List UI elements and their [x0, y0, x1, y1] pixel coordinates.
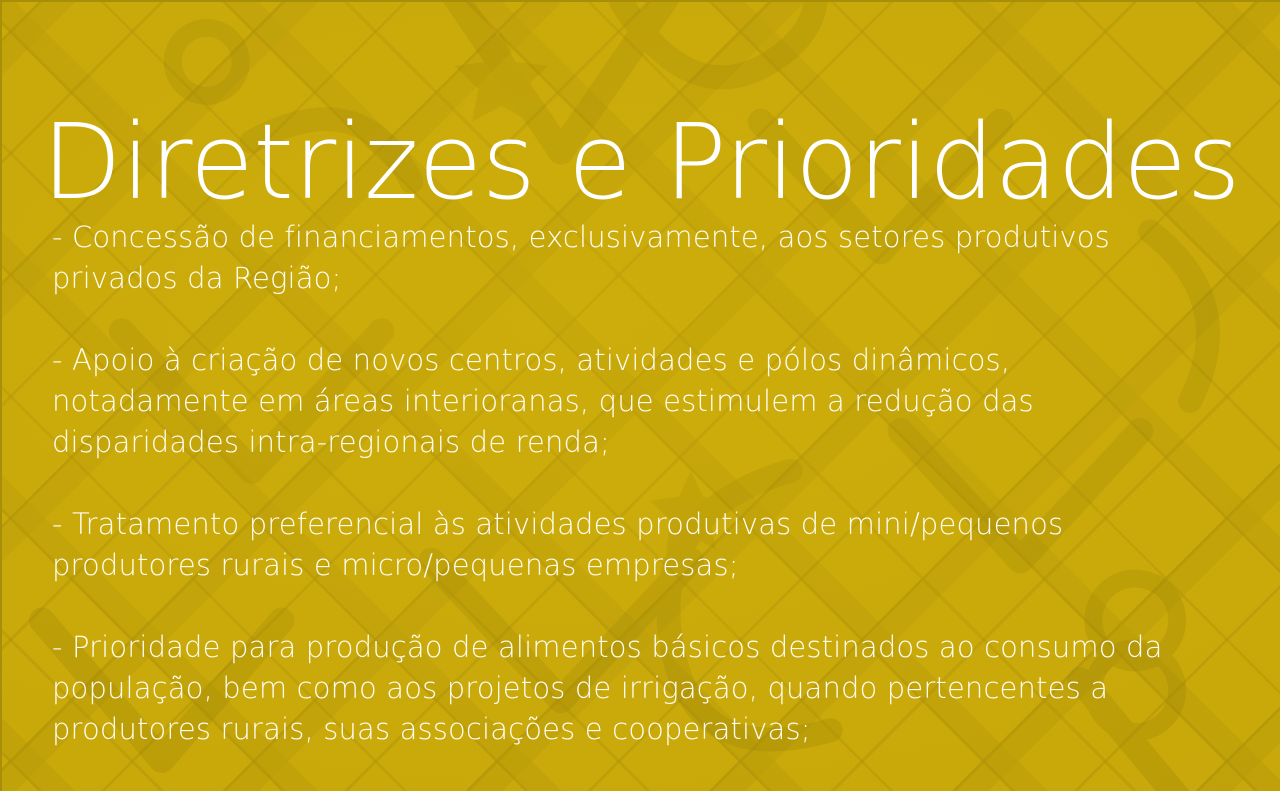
list-item: - Apoio à criação de novos centros, ativ…: [52, 340, 1212, 463]
bullet-list: - Concessão de financiamentos, exclusiva…: [52, 217, 1220, 750]
list-item: - Prioridade para produção de alimentos …: [52, 627, 1212, 750]
presentation-slide: Diretrizes e Prioridades - Concessão de …: [0, 0, 1280, 791]
list-item: - Tratamento preferencial às atividades …: [52, 504, 1212, 586]
page-title: Diretrizes e Prioridades: [2, 106, 1280, 218]
slide-content: Diretrizes e Prioridades - Concessão de …: [2, 2, 1280, 791]
list-item: - Concessão de financiamentos, exclusiva…: [52, 217, 1212, 299]
